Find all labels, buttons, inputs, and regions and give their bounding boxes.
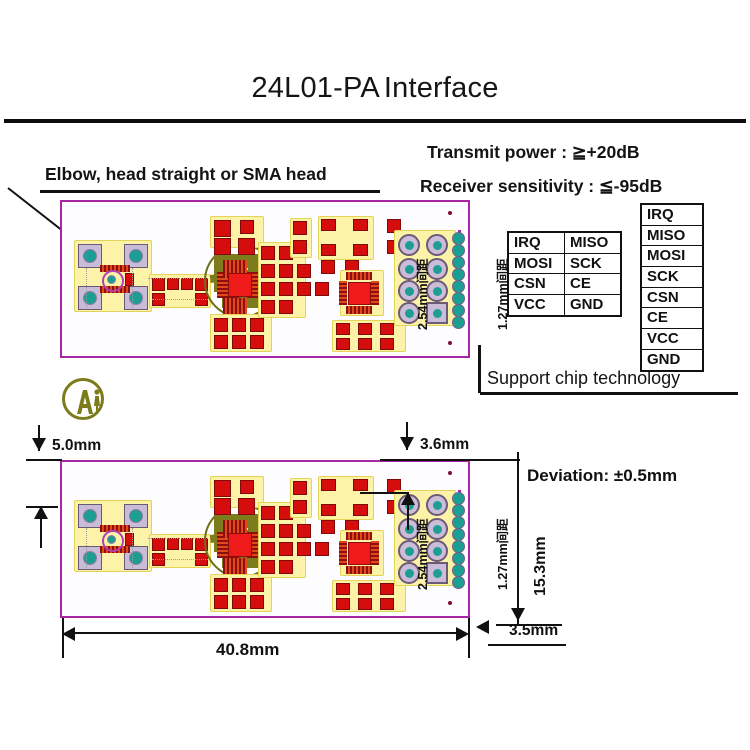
dim-width-line xyxy=(68,632,464,634)
pin-cell: MOSI xyxy=(641,246,703,267)
pad xyxy=(261,300,275,314)
sma-pad-via xyxy=(83,249,97,263)
trace xyxy=(132,268,133,308)
pad xyxy=(297,524,311,538)
dim-bottom-offset-base xyxy=(488,644,566,646)
dim-height-label: 15.3mm xyxy=(532,536,550,596)
header-pin xyxy=(426,234,448,256)
pad xyxy=(321,520,335,534)
pad xyxy=(232,318,246,332)
transceiver-chip xyxy=(348,542,371,565)
pin-cell: VCC xyxy=(508,295,565,316)
support-note-label: Support chip technology xyxy=(487,368,680,389)
pin-cell: SCK xyxy=(641,267,703,288)
transceiver-chip xyxy=(348,282,371,305)
chip-pad-row xyxy=(371,541,379,565)
edge-pitch-label-top: 1.27mm间距 xyxy=(492,258,511,330)
trace xyxy=(86,268,87,308)
header-pitch-arrow xyxy=(401,492,415,505)
pad xyxy=(181,538,193,550)
pad xyxy=(250,595,264,609)
edge-via xyxy=(452,576,465,589)
pad xyxy=(238,498,255,515)
fiducial-mark xyxy=(448,211,452,215)
pad xyxy=(380,583,394,595)
pad xyxy=(261,282,275,296)
chip-pad-row xyxy=(346,532,372,540)
chip-pad-row xyxy=(223,298,247,314)
trace xyxy=(152,559,208,560)
table-row: VCC xyxy=(641,329,703,350)
dim-top-margin-label: 5.0mm xyxy=(52,437,101,455)
pad xyxy=(358,598,372,610)
deviation-leader xyxy=(460,459,520,461)
rf-center-via xyxy=(107,535,116,544)
diagram-canvas: 24L01-PAInterface Transmit power : ≧+20d… xyxy=(0,0,750,750)
pin-cell: MOSI xyxy=(508,253,565,274)
pad xyxy=(250,578,264,592)
pad xyxy=(261,560,275,574)
rf-center-via xyxy=(107,275,116,284)
pad xyxy=(214,498,231,515)
spec-receiver-sensitivity: Receiver sensitivity : ≦-95dB xyxy=(420,176,662,197)
pad xyxy=(214,238,231,255)
dim-bottom-offset-label: 3.5mm xyxy=(509,622,558,640)
pad xyxy=(358,323,372,335)
dim-width-arrow-left xyxy=(62,627,75,641)
pad xyxy=(315,542,329,556)
chip-pad-row xyxy=(346,566,372,574)
pad xyxy=(336,323,350,335)
chip-pad-row xyxy=(339,541,347,565)
dim-height-line xyxy=(517,452,519,624)
chip-pad-row xyxy=(346,272,372,280)
spec-transmit-power: Transmit power : ≧+20dB xyxy=(427,142,640,163)
pad xyxy=(380,323,394,335)
pad xyxy=(279,264,293,278)
table-row: IRQ MISO xyxy=(508,232,621,253)
bottom-board-artwork xyxy=(62,462,468,616)
pad xyxy=(279,300,293,314)
pinout-table-single-row: IRQ MISO MOSI SCK CSN CE VCC GND xyxy=(640,203,704,372)
trace xyxy=(86,528,87,568)
chip-pad-row xyxy=(346,306,372,314)
page-title: 24L01-PAInterface xyxy=(0,72,750,105)
top-board-artwork xyxy=(62,202,468,356)
pad xyxy=(238,238,255,255)
pin-cell: MISO xyxy=(641,225,703,246)
dim-bottom-offset-arrow xyxy=(476,620,489,634)
pad xyxy=(214,220,231,237)
pa-chip xyxy=(228,273,252,297)
pin-cell: IRQ xyxy=(508,232,565,253)
table-row: VCC GND xyxy=(508,295,621,316)
pad xyxy=(293,221,307,235)
pinout-table-dual-row: IRQ MISO MOSI SCK CSN CE VCC GND xyxy=(507,231,622,317)
header-pitch-label-top: 2.54mm间距 xyxy=(412,258,431,330)
pad xyxy=(279,282,293,296)
pad xyxy=(321,219,336,231)
brand-logo-icon xyxy=(62,378,104,420)
edge-via xyxy=(452,316,465,329)
sma-pad-via xyxy=(129,509,143,523)
pad xyxy=(261,524,275,538)
pad xyxy=(315,282,329,296)
table-row: CSN CE xyxy=(508,274,621,295)
chip-pad-row xyxy=(371,281,379,305)
dim-height-arrow-down xyxy=(511,608,525,621)
pad xyxy=(250,335,264,349)
pad xyxy=(279,560,293,574)
pad xyxy=(321,504,336,516)
trace xyxy=(152,299,208,300)
table-row: SCK xyxy=(641,267,703,288)
pad xyxy=(261,542,275,556)
pad xyxy=(321,244,336,256)
pad xyxy=(297,282,311,296)
chip-pad-row xyxy=(339,281,347,305)
pad xyxy=(358,338,372,350)
pad xyxy=(240,480,254,494)
header-pitch-label-bottom: 2.54mm间距 xyxy=(412,518,431,590)
table-row: MISO xyxy=(641,225,703,246)
pad xyxy=(232,578,246,592)
dim-pad-row-arrow xyxy=(34,506,48,519)
pad xyxy=(214,578,228,592)
trace xyxy=(148,278,208,279)
fiducial-mark xyxy=(448,341,452,345)
pad xyxy=(293,500,307,514)
page-title-part1: 24L01-PA xyxy=(251,72,379,104)
table-row: CSN xyxy=(641,287,703,308)
dim-right-margin-base xyxy=(380,459,464,461)
pad xyxy=(240,220,254,234)
pad xyxy=(214,335,228,349)
pad xyxy=(297,264,311,278)
pad xyxy=(380,598,394,610)
pa-chip xyxy=(228,533,252,557)
pad xyxy=(261,264,275,278)
trace xyxy=(132,528,133,568)
dim-width-label: 40.8mm xyxy=(216,640,279,660)
dim-top-margin-arrow xyxy=(32,438,46,451)
pad xyxy=(167,278,179,290)
pad xyxy=(167,538,179,550)
edge-pitch-label-bottom: 1.27mm间距 xyxy=(492,518,511,590)
pad xyxy=(358,583,372,595)
pad xyxy=(214,480,231,497)
pad xyxy=(353,219,368,231)
pad xyxy=(261,246,275,260)
pad xyxy=(293,240,307,254)
dim-right-margin-label: 3.6mm xyxy=(420,436,469,454)
bottom-board-view xyxy=(60,460,470,618)
pad xyxy=(336,598,350,610)
pin-cell: IRQ xyxy=(641,204,703,225)
title-divider xyxy=(4,119,746,123)
table-row: CE xyxy=(641,308,703,329)
dim-width-arrow-right xyxy=(456,627,469,641)
pad xyxy=(336,583,350,595)
pad xyxy=(297,542,311,556)
pad xyxy=(321,479,336,491)
pad xyxy=(279,524,293,538)
fiducial-mark xyxy=(448,471,452,475)
sma-pad-via xyxy=(83,509,97,523)
table-row: MOSI xyxy=(641,246,703,267)
support-note-leader xyxy=(478,345,481,393)
table-row: MOSI SCK xyxy=(508,253,621,274)
pin-cell: CSN xyxy=(508,274,565,295)
pad xyxy=(353,479,368,491)
pad xyxy=(279,542,293,556)
pad xyxy=(214,318,228,332)
header-pin xyxy=(398,234,420,256)
pad xyxy=(353,504,368,516)
page-title-part2: Interface xyxy=(384,72,499,104)
pad xyxy=(152,278,165,291)
pad xyxy=(293,481,307,495)
pad xyxy=(321,260,335,274)
deviation-label: Deviation: ±0.5mm xyxy=(527,466,677,486)
support-note-underline xyxy=(480,392,738,395)
pad xyxy=(250,318,264,332)
top-board-view xyxy=(60,200,470,358)
pad xyxy=(181,278,193,290)
pin-cell: CSN xyxy=(641,287,703,308)
pin-cell: VCC xyxy=(641,329,703,350)
pin-cell: GND xyxy=(565,295,622,316)
table-row: IRQ xyxy=(641,204,703,225)
header-pin xyxy=(426,494,448,516)
pad xyxy=(261,506,275,520)
pad xyxy=(336,338,350,350)
pin-cell: CE xyxy=(565,274,622,295)
pin-cell: SCK xyxy=(565,253,622,274)
pin-cell: CE xyxy=(641,308,703,329)
sma-pad-via xyxy=(129,249,143,263)
pad xyxy=(232,595,246,609)
pad xyxy=(380,338,394,350)
connector-callout-label: Elbow, head straight or SMA head xyxy=(45,164,327,185)
chip-pad-row xyxy=(223,558,247,574)
trace xyxy=(148,538,208,539)
fiducial-mark xyxy=(448,601,452,605)
pin-cell: MISO xyxy=(565,232,622,253)
pad xyxy=(232,335,246,349)
pad xyxy=(214,595,228,609)
dim-right-margin-arrow xyxy=(400,437,414,450)
pad xyxy=(353,244,368,256)
dim-top-margin-base xyxy=(26,459,62,461)
pad xyxy=(152,538,165,551)
